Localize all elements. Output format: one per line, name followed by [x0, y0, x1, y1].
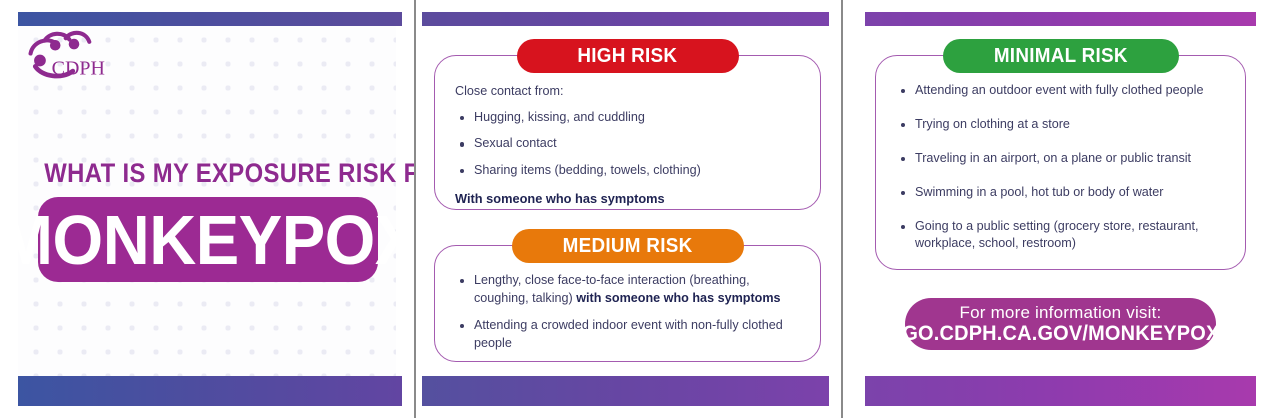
- list-item: Hugging, kissing, and cuddling: [455, 109, 800, 127]
- minimal-risk-badge: MINIMAL RISK: [943, 39, 1179, 73]
- bottom-gradient-rail: [18, 376, 402, 406]
- infographic-carousel: CDPH WHAT IS MY EXPOSURE RISK FOR MONKEY…: [0, 0, 1270, 418]
- headline-text: MONKEYPOX: [0, 205, 414, 275]
- bottom-gradient-rail: [865, 376, 1256, 406]
- list-item: Attending a crowded indoor event with no…: [455, 317, 800, 353]
- list-item: Attending an outdoor event with fully cl…: [896, 82, 1225, 100]
- minimal-risk-bullet-list: Attending an outdoor event with fully cl…: [896, 82, 1225, 253]
- top-gradient-rail: [18, 12, 402, 26]
- svg-text:CDPH: CDPH: [52, 58, 105, 80]
- headline-pill: MONKEYPOX: [38, 197, 378, 282]
- minimal-risk-body: Attending an outdoor event with fully cl…: [876, 56, 1245, 279]
- medium-risk-bullet-list: Lengthy, close face-to-face interaction …: [455, 272, 800, 353]
- list-item-text-bold: with someone who has symptoms: [576, 291, 780, 305]
- high-risk-lead: Close contact from:: [455, 82, 800, 102]
- high-risk-badge-label: HIGH RISK: [578, 44, 678, 68]
- top-gradient-rail: [422, 12, 829, 26]
- medium-risk-badge: MEDIUM RISK: [512, 229, 744, 263]
- list-item: Sharing items (bedding, towels, clothing…: [455, 162, 800, 180]
- minimal-risk-badge-label: MINIMAL RISK: [994, 44, 1128, 68]
- list-item-text-plain: Attending a crowded indoor event with no…: [474, 318, 783, 350]
- cta-url-text: GO.CDPH.CA.GOV/MONKEYPOX: [902, 322, 1219, 345]
- high-risk-note: With someone who has symptoms: [455, 189, 800, 209]
- panel-high-medium-risk: HIGH RISK Close contact from: Hugging, k…: [416, 0, 841, 418]
- page-title: WHAT IS MY EXPOSURE RISK FOR: [44, 158, 373, 189]
- panel-minimal-risk: MINIMAL RISK Attending an outdoor event …: [843, 0, 1268, 418]
- list-item: Swimming in a pool, hot tub or body of w…: [896, 184, 1225, 202]
- more-info-cta[interactable]: For more information visit: GO.CDPH.CA.G…: [905, 298, 1216, 350]
- cdph-logo: CDPH: [26, 30, 122, 84]
- high-risk-bullet-list: Hugging, kissing, and cuddling Sexual co…: [455, 109, 800, 181]
- medium-risk-card: MEDIUM RISK Lengthy, close face-to-face …: [434, 245, 821, 362]
- top-gradient-rail: [865, 12, 1256, 26]
- high-risk-body: Close contact from: Hugging, kissing, an…: [435, 56, 820, 219]
- high-risk-badge: HIGH RISK: [517, 39, 739, 73]
- minimal-risk-card: MINIMAL RISK Attending an outdoor event …: [875, 55, 1246, 270]
- list-item: Lengthy, close face-to-face interaction …: [455, 272, 800, 308]
- panel-cover: CDPH WHAT IS MY EXPOSURE RISK FOR MONKEY…: [0, 0, 414, 418]
- medium-risk-body: Lengthy, close face-to-face interaction …: [435, 246, 820, 372]
- list-item: Traveling in an airport, on a plane or p…: [896, 150, 1225, 168]
- high-risk-card: HIGH RISK Close contact from: Hugging, k…: [434, 55, 821, 210]
- list-item: Sexual contact: [455, 135, 800, 153]
- list-item: Going to a public setting (grocery store…: [896, 218, 1225, 254]
- cta-prompt-text: For more information visit:: [960, 303, 1162, 322]
- list-item: Trying on clothing at a store: [896, 116, 1225, 134]
- bottom-gradient-rail: [422, 376, 829, 406]
- medium-risk-badge-label: MEDIUM RISK: [563, 234, 693, 258]
